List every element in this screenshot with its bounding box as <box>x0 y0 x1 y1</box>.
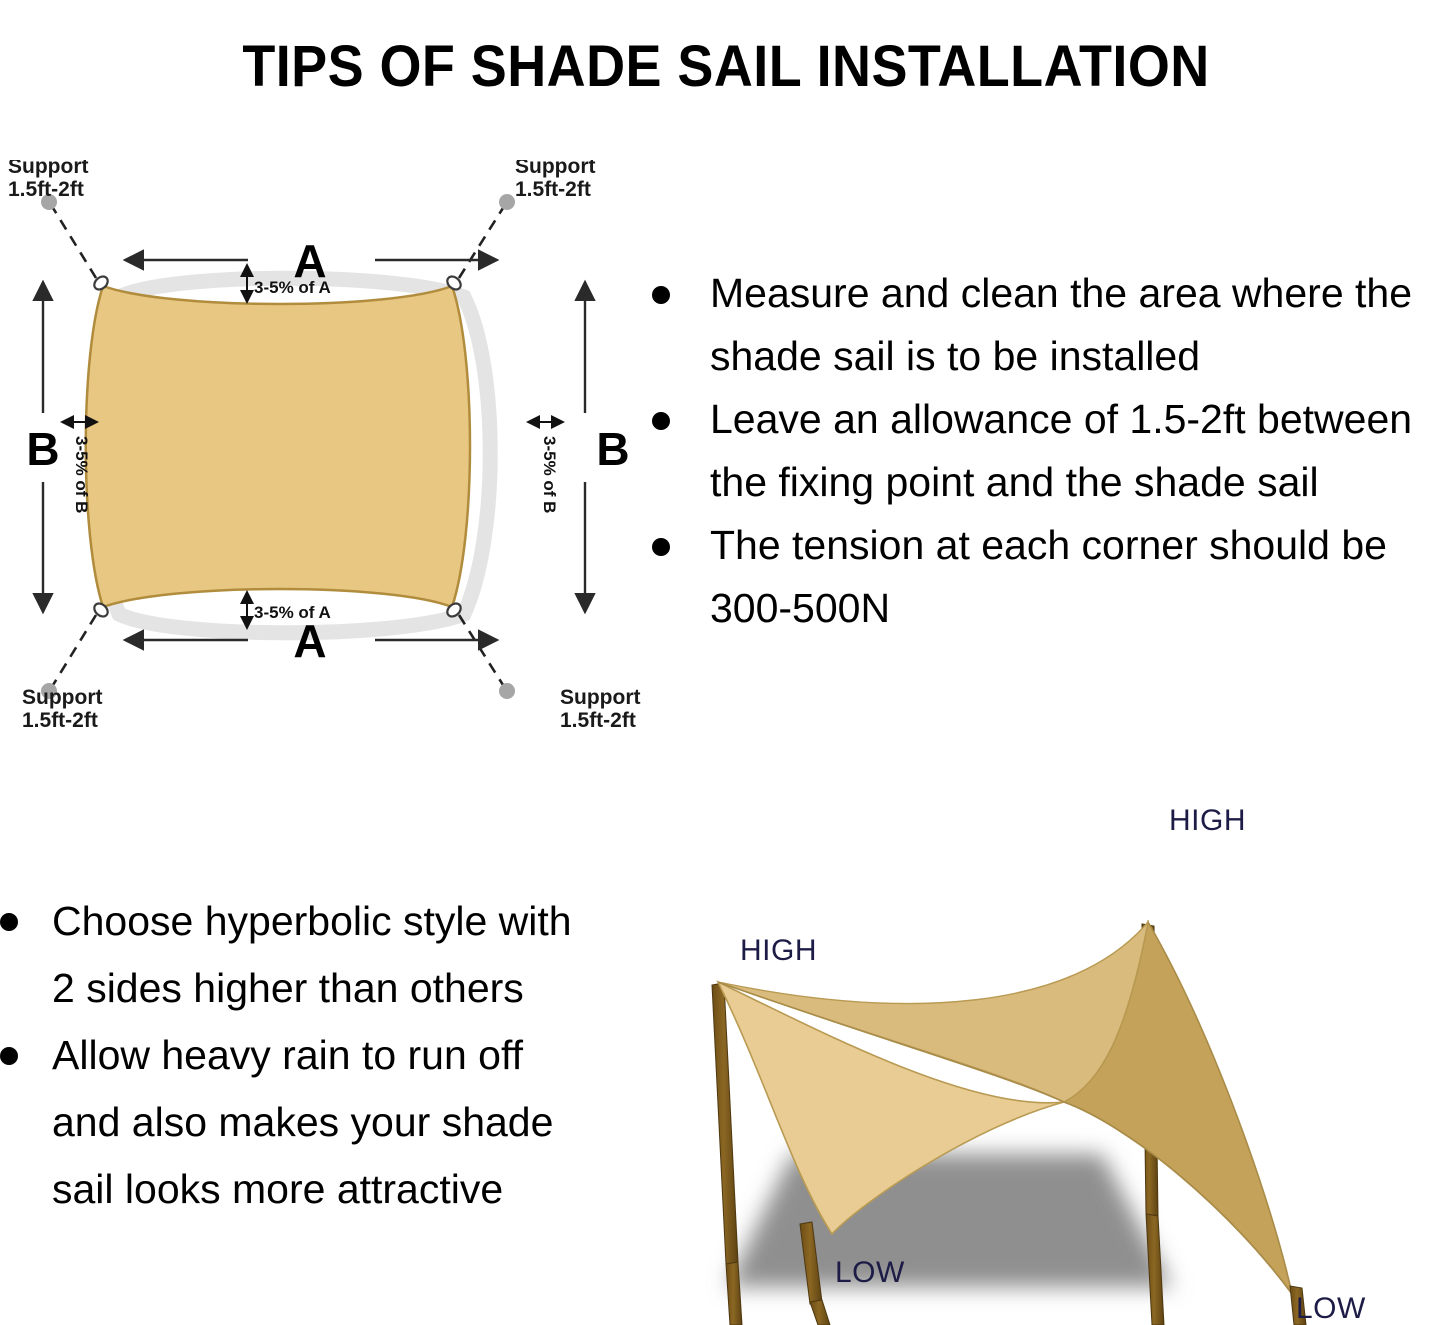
sag-label-a-bottom: 3-5% of A <box>254 603 331 622</box>
list-item-line: The tension at each corner should be <box>710 514 1452 577</box>
list-item-line: Allow heavy rain to run off <box>52 1022 625 1089</box>
list-item-line: 300-500N <box>710 577 1452 640</box>
shade-sail-dimension-diagram: Support 1.5ft-2ft Support 1.5ft-2ft Supp… <box>0 160 660 730</box>
support-label-line2: 1.5ft-2ft <box>8 178 84 201</box>
label-low-right: LOW <box>1296 1292 1366 1325</box>
bullet-dot-icon <box>0 913 18 931</box>
label-high-left: HIGH <box>740 934 817 967</box>
list-item-line: the fixing point and the shade sail <box>710 451 1452 514</box>
list-item-line: 2 sides higher than others <box>52 955 625 1022</box>
support-label-line1: Support <box>560 686 640 709</box>
dimension-b-left: B <box>26 282 59 612</box>
support-label-top-left: Support 1.5ft-2ft <box>8 160 88 201</box>
support-label-top-right: Support 1.5ft-2ft <box>515 160 595 201</box>
list-item: Choose hyperbolic style with 2 sides hig… <box>0 888 625 1022</box>
dimension-label-b-right: B <box>596 423 629 475</box>
support-label-line1: Support <box>22 686 102 709</box>
hyperbolic-tips-list: Choose hyperbolic style with 2 sides hig… <box>0 888 625 1223</box>
bullet-dot-icon <box>652 286 670 304</box>
installation-tips-list: Measure and clean the area where the sha… <box>652 262 1452 640</box>
list-item-line: shade sail is to be installed <box>710 325 1452 388</box>
sag-label-a-top: 3-5% of A <box>254 278 331 297</box>
bullet-dot-icon <box>652 412 670 430</box>
dimension-label-a-bottom: A <box>293 615 326 667</box>
list-item-line: Choose hyperbolic style with <box>52 888 625 955</box>
sag-label-b-right: 3-5% of B <box>540 436 559 513</box>
list-item: Allow heavy rain to run off and also mak… <box>0 1022 625 1223</box>
hyperbolic-shade-sail-illustration: HIGH HIGH LOW LOW <box>672 782 1452 1325</box>
sag-b-right: 3-5% of B <box>528 422 563 513</box>
support-label-line2: 1.5ft-2ft <box>22 709 98 730</box>
list-item: Measure and clean the area where the sha… <box>652 262 1452 388</box>
sag-label-b-left: 3-5% of B <box>72 436 91 513</box>
support-label-line2: 1.5ft-2ft <box>515 178 591 201</box>
shade-sail-panel <box>86 286 470 607</box>
list-item: The tension at each corner should be 300… <box>652 514 1452 640</box>
support-label-bottom-right: Support 1.5ft-2ft <box>560 686 640 730</box>
bullet-dot-icon <box>652 538 670 556</box>
support-label-line1: Support <box>8 160 88 178</box>
list-item-line: sail looks more attractive <box>52 1156 625 1223</box>
label-high-right: HIGH <box>1169 804 1246 837</box>
list-item-line: Leave an allowance of 1.5-2ft between <box>710 388 1452 451</box>
page-title: TIPS OF SHADE SAIL INSTALLATION <box>51 35 1401 99</box>
bullet-dot-icon <box>0 1047 18 1065</box>
sag-b-left: 3-5% of B <box>62 422 97 513</box>
list-item: Leave an allowance of 1.5-2ft between th… <box>652 388 1452 514</box>
dimension-b-right: B <box>585 282 630 612</box>
label-low-left: LOW <box>835 1256 905 1289</box>
dimension-label-b-left: B <box>26 423 59 475</box>
support-label-line2: 1.5ft-2ft <box>560 709 636 730</box>
list-item-line: and also makes your shade <box>52 1089 625 1156</box>
support-label-bottom-left: Support 1.5ft-2ft <box>22 686 102 730</box>
support-label-line1: Support <box>515 160 595 178</box>
list-item-line: Measure and clean the area where the <box>710 262 1452 325</box>
